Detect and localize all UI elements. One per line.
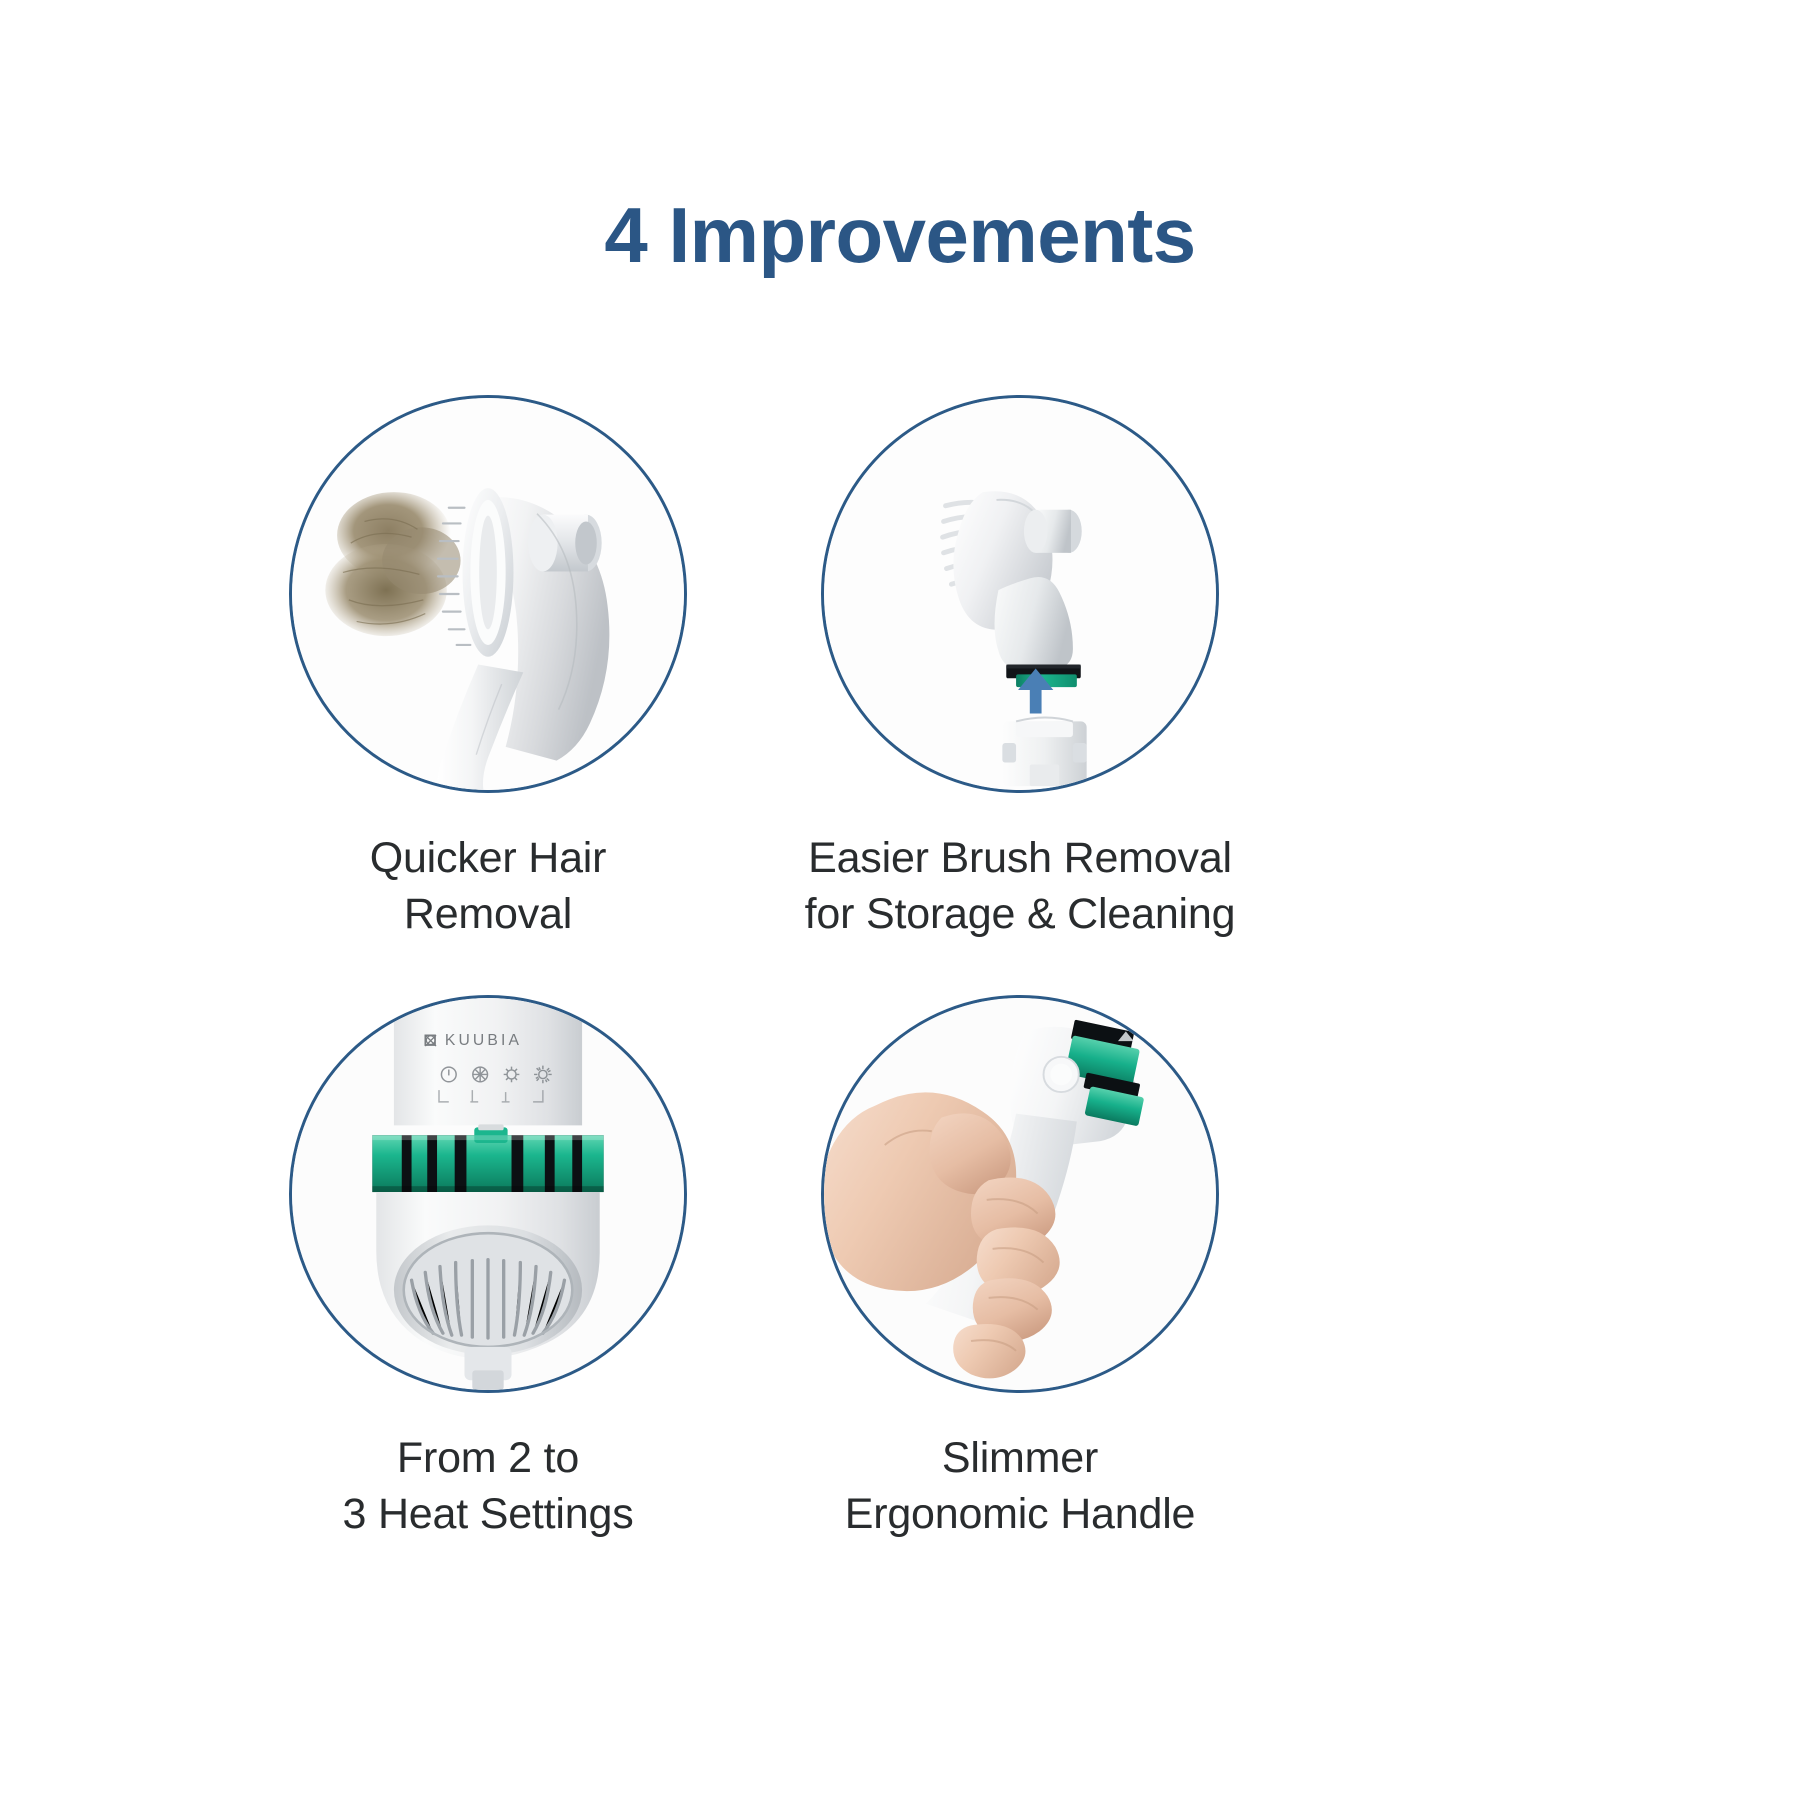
circle-border-1 (289, 395, 687, 793)
circle-frame-3: KUUBIA (289, 995, 687, 1393)
product-image-3: KUUBIA (292, 998, 684, 1390)
circle-border-4 (821, 995, 1219, 1393)
product-image-2 (824, 398, 1216, 790)
page-title: 4 Improvements (0, 195, 1800, 277)
nozzle (528, 515, 602, 572)
improvement-caption-2: Easier Brush Removal for Storage & Clean… (700, 831, 1340, 943)
circle-frame-1 (289, 395, 687, 793)
circle-frame-4 (821, 995, 1219, 1393)
improvements-grid: Quicker Hair Removal (0, 395, 1800, 1725)
cool-air-icon (473, 1067, 488, 1082)
brand-logo-text: KUUBIA (445, 1032, 522, 1049)
improvement-card-2: Easier Brush Removal for Storage & Clean… (700, 395, 1340, 943)
improvement-caption-4: Slimmer Ergonomic Handle (700, 1431, 1340, 1543)
infographic-page: 4 Improvements (0, 0, 1800, 1800)
caption-line-2: for Storage & Cleaning (700, 887, 1340, 943)
caption-line-1: Easier Brush Removal (700, 831, 1340, 887)
caption-line-2: Ergonomic Handle (700, 1487, 1340, 1543)
product-image-1 (292, 398, 684, 790)
product-image-4 (824, 998, 1216, 1390)
caption-line-1: Slimmer (700, 1431, 1340, 1487)
vent-grille (394, 1225, 582, 1354)
wand-socket (1002, 717, 1086, 786)
circle-border-2 (821, 395, 1219, 793)
circle-border-3: KUUBIA (289, 995, 687, 1393)
circle-frame-2 (821, 395, 1219, 793)
improvement-card-4: Slimmer Ergonomic Handle (700, 995, 1340, 1543)
